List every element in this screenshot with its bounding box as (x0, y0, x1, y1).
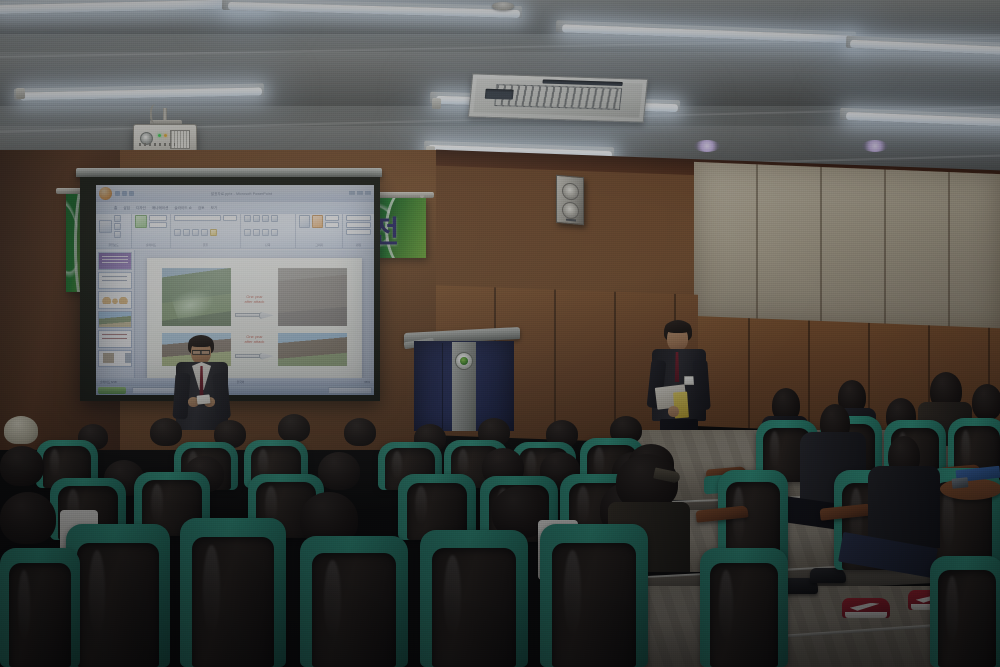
auditorium-seat[interactable] (540, 524, 648, 667)
slide-thumbnail[interactable]: 4 (98, 311, 132, 328)
presenter-handheld-notes (197, 394, 211, 404)
audience-head (0, 492, 56, 544)
annotation-text-1: One year after attack (233, 294, 276, 304)
staff-hair-top (665, 321, 691, 333)
ribbon-group-clipboard[interactable]: 클립보드 (96, 214, 132, 248)
lecture-hall-photo: 전 발표자료.pptx - Microsoft PowerPoint (0, 0, 1000, 667)
tab-home[interactable]: 홈 (114, 206, 117, 211)
sneaker-logo-icon (850, 603, 880, 611)
align-center-icon[interactable] (253, 229, 260, 236)
smoke-detector-icon (492, 2, 514, 10)
slide-counter: 슬라이드 6/18 (100, 380, 117, 384)
font-name-combo[interactable] (174, 215, 221, 221)
speaker-driver (562, 201, 579, 219)
tab-review[interactable]: 검토 (198, 206, 205, 211)
zoom-level[interactable]: 66% (364, 380, 370, 384)
powerpoint-titlebar: 발표자료.pptx - Microsoft PowerPoint (96, 185, 374, 202)
acoustic-wall-panel (694, 162, 1000, 334)
select-button[interactable] (346, 229, 371, 235)
start-button[interactable] (98, 387, 126, 394)
italic-icon[interactable] (183, 229, 190, 236)
slide-thumbnail[interactable]: 2 (98, 272, 132, 289)
undo-icon[interactable] (122, 191, 127, 196)
dress-shoe (810, 568, 846, 583)
quick-styles-icon[interactable] (312, 215, 323, 228)
ribbon-group-font[interactable]: 글꼴 (171, 214, 241, 248)
window-title: 발표자료.pptx - Microsoft PowerPoint (134, 191, 349, 196)
justify-icon[interactable] (271, 229, 278, 236)
ribbon-group-slides[interactable]: 슬라이드 (132, 214, 171, 248)
projector-power-led (158, 134, 161, 137)
wall-speaker (556, 175, 584, 225)
speaker-driver (562, 182, 579, 200)
ribbon-tabs[interactable]: 홈 삽입 디자인 애니메이션 슬라이드 쇼 검토 보기 (96, 202, 374, 215)
ribbon-group-drawing[interactable]: 그리기 (296, 214, 343, 248)
landscape-photo-after (278, 333, 347, 367)
auditorium-seat[interactable] (420, 530, 528, 667)
aerial-photo-damaged-grey (278, 268, 347, 326)
bold-icon[interactable] (174, 229, 181, 236)
audience-body-seated (868, 466, 940, 548)
ribbon-group-label: 슬라이드 (135, 243, 167, 247)
slide-thumbnail-selected[interactable]: 6 (98, 350, 132, 367)
replace-button[interactable] (346, 222, 371, 228)
new-slide-icon[interactable] (135, 215, 147, 228)
presenter-hair-top (189, 336, 213, 347)
tab-design[interactable]: 디자인 (136, 206, 146, 211)
shape-fill-button[interactable] (325, 215, 340, 221)
slide-thumbnail-panel[interactable]: 1 2 3 4 5 6 (96, 250, 135, 387)
projector-air-grille (170, 130, 190, 149)
tab-view[interactable]: 보기 (211, 206, 218, 211)
paste-icon[interactable] (99, 220, 112, 233)
maximize-icon[interactable] (357, 191, 363, 195)
shapes-icon[interactable] (299, 215, 310, 228)
close-icon[interactable] (365, 191, 371, 195)
speaker-label (566, 219, 576, 222)
indent-icon[interactable] (262, 215, 269, 222)
emblem-inner-mark (460, 357, 469, 366)
red-sneaker (842, 598, 890, 618)
numbering-icon[interactable] (253, 215, 260, 222)
annotation-text-2: One year after attack (233, 334, 276, 344)
mobile-phone[interactable] (952, 477, 969, 489)
copy-icon[interactable] (114, 223, 121, 230)
office-orb-icon[interactable] (99, 187, 112, 200)
recessed-downlight (694, 140, 720, 152)
shadow-icon[interactable] (201, 229, 208, 236)
font-color-icon[interactable] (210, 229, 217, 236)
staff-right-arm (692, 360, 710, 411)
auditorium-seat[interactable] (300, 536, 408, 667)
find-button[interactable] (346, 215, 371, 221)
recessed-downlight (862, 140, 888, 152)
save-icon[interactable] (115, 191, 120, 196)
ribbon-group-label: 단락 (244, 243, 293, 247)
window-buttons[interactable] (349, 191, 371, 195)
ribbon-group-paragraph[interactable]: 단락 (241, 214, 297, 248)
cut-icon[interactable] (114, 215, 121, 222)
slide-thumbnail[interactable]: 5 (98, 330, 132, 347)
ac-grille (494, 84, 621, 110)
ribbon-group-label: 그리기 (299, 243, 339, 247)
right-arrow-icon-1 (235, 311, 274, 319)
ribbon[interactable]: 클립보드 슬라이드 (96, 214, 374, 249)
format-painter-icon[interactable] (114, 231, 121, 238)
eyeglasses-icon (192, 350, 210, 351)
audience-head (344, 418, 376, 446)
tab-insert[interactable]: 삽입 (123, 206, 130, 211)
presenter-right-arm (212, 372, 231, 419)
presenter-left-arm (172, 373, 190, 420)
ribbon-group-editing[interactable]: 편집 (343, 214, 374, 248)
auditorium-seat[interactable] (180, 518, 286, 667)
audience-head (278, 414, 310, 442)
ceiling-air-conditioner (468, 73, 648, 122)
slide-thumbnail[interactable]: 3 (98, 291, 132, 308)
auditorium-seat[interactable] (700, 548, 788, 667)
projector-lamp-led (164, 134, 167, 137)
minimize-icon[interactable] (349, 191, 355, 195)
line-spacing-icon[interactable] (271, 215, 278, 222)
staff-hand (668, 406, 679, 417)
audience-head (0, 446, 44, 486)
audience-head (972, 384, 1000, 420)
bullets-icon[interactable] (244, 215, 251, 222)
layout-button[interactable] (149, 215, 167, 221)
ribbon-group-label: 편집 (346, 243, 371, 247)
audience-head (318, 452, 360, 490)
underline-icon[interactable] (192, 229, 199, 236)
auditorium-seat[interactable] (66, 524, 170, 667)
auditorium-seat[interactable] (0, 548, 80, 667)
tab-slideshow[interactable]: 슬라이드 쇼 (174, 206, 192, 211)
ac-vent (485, 89, 514, 99)
ribbon-group-label: 클립보드 (99, 243, 128, 247)
audience-head (4, 416, 38, 444)
align-right-icon[interactable] (262, 229, 269, 236)
font-size-combo[interactable] (223, 215, 237, 221)
institution-emblem (455, 352, 473, 370)
presenter-speaking (166, 335, 238, 430)
projector (133, 124, 197, 152)
auditorium-seat[interactable] (930, 556, 1000, 667)
system-tray[interactable] (328, 387, 372, 393)
right-arrow-icon-2 (235, 352, 274, 360)
shape-outline-button[interactable] (325, 222, 340, 228)
folding-tray-table[interactable] (940, 478, 1000, 500)
projector-cable (150, 104, 164, 124)
reset-button[interactable] (149, 222, 167, 228)
align-left-icon[interactable] (244, 229, 251, 236)
ribbon-group-label: 글꼴 (174, 243, 237, 247)
tab-animation[interactable]: 애니메이션 (152, 206, 169, 211)
aerial-photo-green-forest (162, 268, 231, 326)
screen-casing (76, 168, 382, 177)
lectern-edge (442, 343, 443, 429)
slide-thumbnail[interactable]: 1 (98, 252, 132, 269)
quick-access-toolbar[interactable] (115, 191, 134, 196)
